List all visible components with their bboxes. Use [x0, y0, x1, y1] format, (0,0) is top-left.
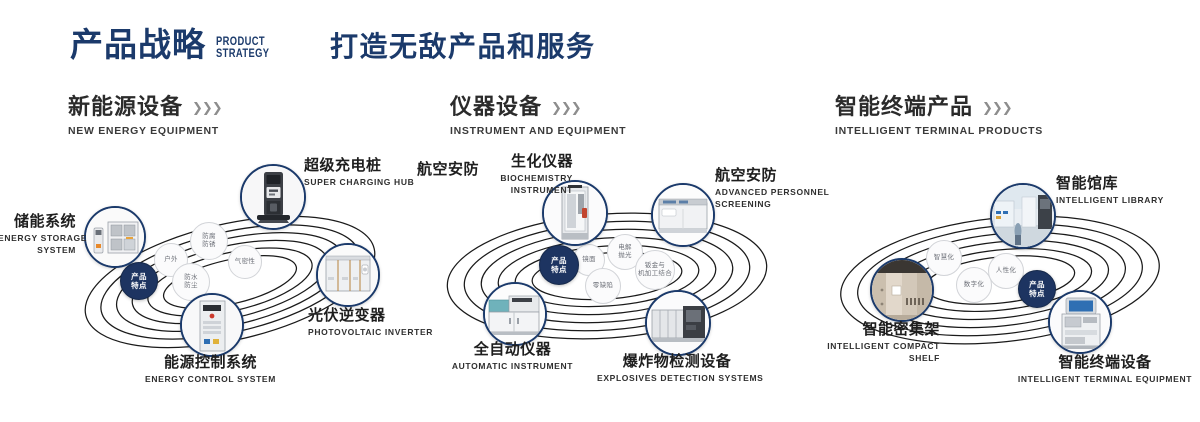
- label-automatic-instrument: 全自动仪器 AUTOMATIC INSTRUMENT: [425, 342, 600, 371]
- label-intelligent-library: 智能馆库 INTELLIGENT LIBRARY: [1056, 176, 1196, 205]
- label-en-line2: SYSTEM: [0, 245, 76, 256]
- core-bubble-label-2: 特点: [131, 281, 147, 290]
- section-title-cn: 智能终端产品: [835, 96, 973, 118]
- label-cn: 储能系统: [0, 214, 76, 231]
- label-cn: 智能终端设备: [1010, 355, 1200, 372]
- label-en-line1: INTELLIGENT TERMINAL EQUIPMENT: [1010, 374, 1200, 385]
- label-cn: 生化仪器: [467, 154, 573, 171]
- cluster-instrument-and-equipment: 镜面 电解 抛光 零缺陷 钣金与 机加工结合 产品 特点: [415, 150, 815, 400]
- page-title: 产品战略 PRODUCT STRATEGY: [70, 28, 284, 61]
- feature-bubble-label-1: 防水: [184, 274, 198, 282]
- intelligent-compact-shelf-icon: [872, 260, 932, 320]
- label-en-line1: INTELLIGENT COMPACT: [780, 341, 940, 352]
- feature-bubble: 零缺陷: [585, 268, 621, 304]
- energy-storage-cabinet-icon: [86, 208, 144, 266]
- feature-bubble-label: 镜面: [582, 256, 596, 264]
- section-title-instrument: 仪器设备 ❯❯❯ INSTRUMENT AND EQUIPMENT: [450, 96, 626, 137]
- feature-bubble-label: 零缺陷: [593, 282, 613, 290]
- section-title-en: INSTRUMENT AND EQUIPMENT: [450, 125, 626, 137]
- energy-control-cabinet-icon: [182, 295, 242, 355]
- label-en-line1: EXPLOSIVES DETECTION SYSTEMS: [597, 373, 757, 384]
- intelligent-library-icon: [992, 185, 1054, 247]
- product-strategy-infographic: 产品战略 PRODUCT STRATEGY 打造无敌产品和服务 新能源设备 ❯❯…: [0, 0, 1200, 422]
- feature-bubble-label-2: 防锈: [202, 241, 216, 249]
- core-bubble-product-features: 产品 特点: [539, 245, 579, 285]
- node-intelligent-compact-shelf[interactable]: [870, 258, 934, 322]
- node-photovoltaic-inverter[interactable]: [316, 243, 380, 307]
- feature-bubble-label-1: 防腐: [202, 233, 216, 241]
- page-title-en: PRODUCT STRATEGY: [216, 35, 269, 59]
- feature-bubble-label: 户外: [164, 256, 178, 264]
- label-en-line2: SHELF: [780, 353, 940, 364]
- chevron-right-icon: ❯❯❯: [982, 101, 1012, 114]
- page-title-en-line2: STRATEGY: [216, 47, 269, 59]
- label-biochemistry-instrument: 生化仪器 BIOCHEMISTRY INSTRUMENT: [467, 154, 573, 196]
- core-bubble-label-2: 特点: [1029, 289, 1045, 298]
- core-bubble-label-1: 产品: [551, 256, 567, 265]
- label-cn: 智能密集架: [780, 322, 940, 339]
- node-advanced-personnel-screening[interactable]: [651, 183, 715, 247]
- section-title-en: NEW ENERGY EQUIPMENT: [68, 125, 222, 137]
- node-automatic-instrument[interactable]: [483, 282, 547, 346]
- feature-bubble-label-1: 电解: [618, 244, 632, 252]
- label-en-line1: BIOCHEMISTRY: [467, 173, 573, 184]
- label-en-line1: ENERGY STORAGE: [0, 233, 76, 244]
- label-intelligent-compact-shelf: 智能密集架 INTELLIGENT COMPACT SHELF: [780, 322, 940, 364]
- node-super-charging-hub[interactable]: [240, 164, 306, 230]
- label-en-line2: INSTRUMENT: [467, 185, 573, 196]
- feature-bubble: 钣金与 机加工结合: [635, 250, 675, 290]
- label-cn: 智能馆库: [1056, 176, 1196, 193]
- page-title-cn: 产品战略: [70, 28, 206, 61]
- node-energy-control-system[interactable]: [180, 293, 244, 357]
- feature-bubble-label: 人性化: [996, 267, 1016, 275]
- intelligent-terminal-equipment-icon: [1050, 292, 1110, 352]
- cluster-new-energy-equipment: 户外 防腐 防锈 防水 防尘 气密性 产品 特点: [40, 150, 440, 400]
- section-title-en: INTELLIGENT TERMINAL PRODUCTS: [835, 125, 1043, 137]
- label-intelligent-terminal-equipment: 智能终端设备 INTELLIGENT TERMINAL EQUIPMENT: [1010, 355, 1200, 384]
- core-bubble-label-1: 产品: [1029, 280, 1045, 289]
- label-explosives-detection-systems: 爆炸物检测设备 EXPLOSIVES DETECTION SYSTEMS: [597, 354, 757, 383]
- feature-bubble-label: 数字化: [964, 281, 984, 289]
- core-bubble-label-1: 产品: [131, 272, 147, 281]
- node-explosives-detection-systems[interactable]: [645, 290, 711, 356]
- label-en-line1: AUTOMATIC INSTRUMENT: [425, 361, 600, 372]
- feature-bubble-label-2: 防尘: [184, 282, 198, 290]
- feature-bubble-label-2: 抛光: [618, 252, 632, 260]
- feature-bubble: 数字化: [956, 267, 992, 303]
- section-title-new-energy: 新能源设备 ❯❯❯ NEW ENERGY EQUIPMENT: [68, 96, 222, 137]
- explosives-detection-icon: [647, 292, 709, 354]
- label-cn: 能源控制系统: [118, 355, 303, 372]
- section-title-intelligent: 智能终端产品 ❯❯❯ INTELLIGENT TERMINAL PRODUCTS: [835, 96, 1043, 137]
- feature-bubble-label-1: 钣金与: [645, 262, 665, 270]
- feature-bubble: 气密性: [228, 245, 262, 279]
- core-bubble-label-2: 特点: [551, 265, 567, 274]
- feature-bubble-label: 智慧化: [934, 254, 954, 262]
- super-charging-hub-icon: [242, 166, 304, 228]
- label-cn: 爆炸物检测设备: [597, 354, 757, 371]
- feature-bubble-label-2: 机加工结合: [638, 270, 672, 278]
- node-intelligent-terminal-equipment[interactable]: [1048, 290, 1112, 354]
- chevron-right-icon: ❯❯❯: [551, 101, 581, 114]
- feature-bubble-label: 气密性: [235, 258, 255, 266]
- chevron-right-icon: ❯❯❯: [192, 101, 222, 114]
- label-energy-control-system: 能源控制系统 ENERGY CONTROL SYSTEM: [118, 355, 303, 384]
- feature-bubble: 防腐 防锈: [190, 222, 228, 260]
- section-title-cn: 仪器设备: [450, 96, 542, 118]
- cluster-intelligent-terminal-products: 智慧化 数字化 人性化 产品 特点: [800, 150, 1200, 400]
- node-intelligent-library[interactable]: [990, 183, 1056, 249]
- page-slogan: 打造无敌产品和服务: [330, 33, 596, 61]
- label-energy-storage-system: 储能系统 ENERGY STORAGE SYSTEM: [0, 214, 76, 256]
- section-title-cn: 新能源设备: [68, 96, 183, 118]
- automatic-instrument-icon: [485, 284, 545, 344]
- core-bubble-product-features: 产品 特点: [120, 262, 158, 300]
- label-en-line1: INTELLIGENT LIBRARY: [1056, 195, 1196, 206]
- node-energy-storage-system[interactable]: [84, 206, 146, 268]
- label-cn: 全自动仪器: [425, 342, 600, 359]
- photovoltaic-inverter-icon: [318, 245, 378, 305]
- label-en-line1: ENERGY CONTROL SYSTEM: [118, 374, 303, 385]
- personnel-screening-icon: [653, 185, 713, 245]
